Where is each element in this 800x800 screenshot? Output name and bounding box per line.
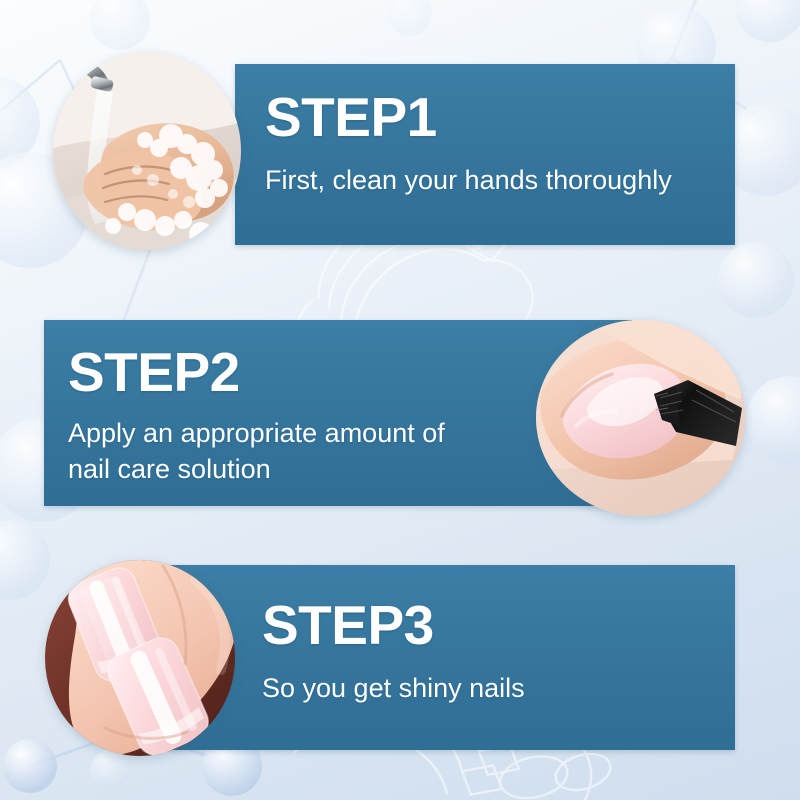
step-2-description-line-1: Apply an appropriate amount of: [68, 416, 538, 452]
step-1-text-block: STEP1 First, clean your hands thoroughly: [265, 90, 735, 199]
step-1-title: STEP1: [265, 90, 735, 145]
step-3-photo-shiny-nails: [45, 560, 235, 756]
step-3-description: So you get shiny nails: [262, 671, 722, 707]
step-2-text-block: STEP2 Apply an appropriate amount of nai…: [68, 345, 538, 487]
step-3-text-block: STEP3 So you get shiny nails: [262, 598, 722, 707]
step-infographic-canvas: STEP1 First, clean your hands thoroughly: [0, 0, 800, 800]
step-2-photo-applying-polish: [536, 320, 745, 516]
step-3-title: STEP3: [262, 598, 722, 653]
step-1-description: First, clean your hands thoroughly: [265, 163, 735, 199]
step-2-description-line-2: nail care solution: [68, 452, 538, 488]
step-2-title: STEP2: [68, 345, 538, 400]
step-1-photo-washing-hands: [53, 52, 241, 250]
